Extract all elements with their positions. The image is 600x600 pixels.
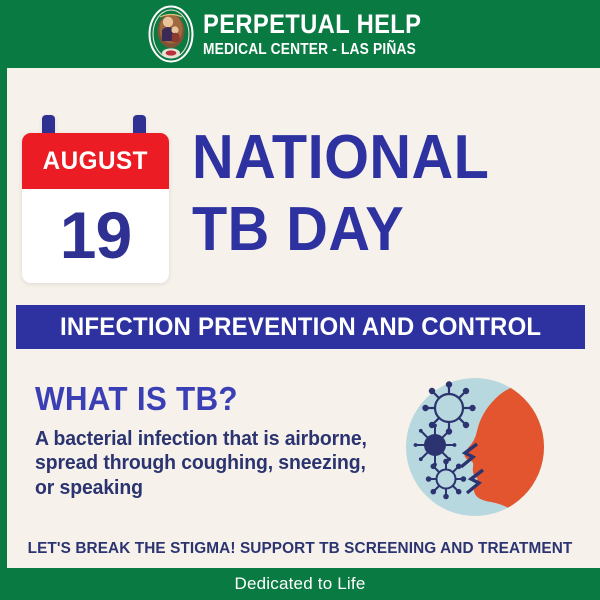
calendar-graphic: AUGUST 19 <box>22 133 169 283</box>
calendar-day-number: 19 <box>60 202 131 268</box>
calendar-month-header: AUGUST <box>22 133 169 189</box>
calendar-month-label: AUGUST <box>43 147 148 176</box>
theme-banner-text: INFECTION PREVENTION AND CONTROL <box>60 313 541 342</box>
what-is-tb-heading: WHAT IS TB? <box>35 382 368 415</box>
germ-filled-icon <box>414 424 457 467</box>
footer-slogan: Dedicated to Life <box>235 574 366 594</box>
title-line-2: TB DAY <box>192 200 564 260</box>
calendar-day-body: 19 <box>22 189 169 283</box>
brand-header-bar: PERPETUAL HELP MEDICAL CENTER - LAS PIÑA… <box>0 0 600 68</box>
page-title: NATIONAL TB DAY <box>192 128 592 260</box>
brand-text-group: PERPETUAL HELP MEDICAL CENTER - LAS PIÑA… <box>203 11 451 58</box>
title-line-1: NATIONAL <box>192 128 564 188</box>
brand-subtitle: MEDICAL CENTER - LAS PIÑAS <box>203 42 416 58</box>
what-is-tb-body: A bacterial infection that is airborne, … <box>35 427 375 500</box>
left-green-edge-strip <box>0 0 7 600</box>
perpetual-help-seal-icon <box>148 5 194 63</box>
campaign-tagline: LET'S BREAK THE STIGMA! SUPPORT TB SCREE… <box>3 540 597 558</box>
what-is-tb-section: WHAT IS TB? A bacterial infection that i… <box>35 382 385 500</box>
footer-bar: Dedicated to Life <box>0 568 600 600</box>
poster-canvas: PERPETUAL HELP MEDICAL CENTER - LAS PIÑA… <box>0 0 600 600</box>
brand-name: PERPETUAL HELP <box>203 11 421 38</box>
coughing-person-germs-illustration <box>403 375 548 520</box>
theme-banner: INFECTION PREVENTION AND CONTROL <box>16 305 585 349</box>
